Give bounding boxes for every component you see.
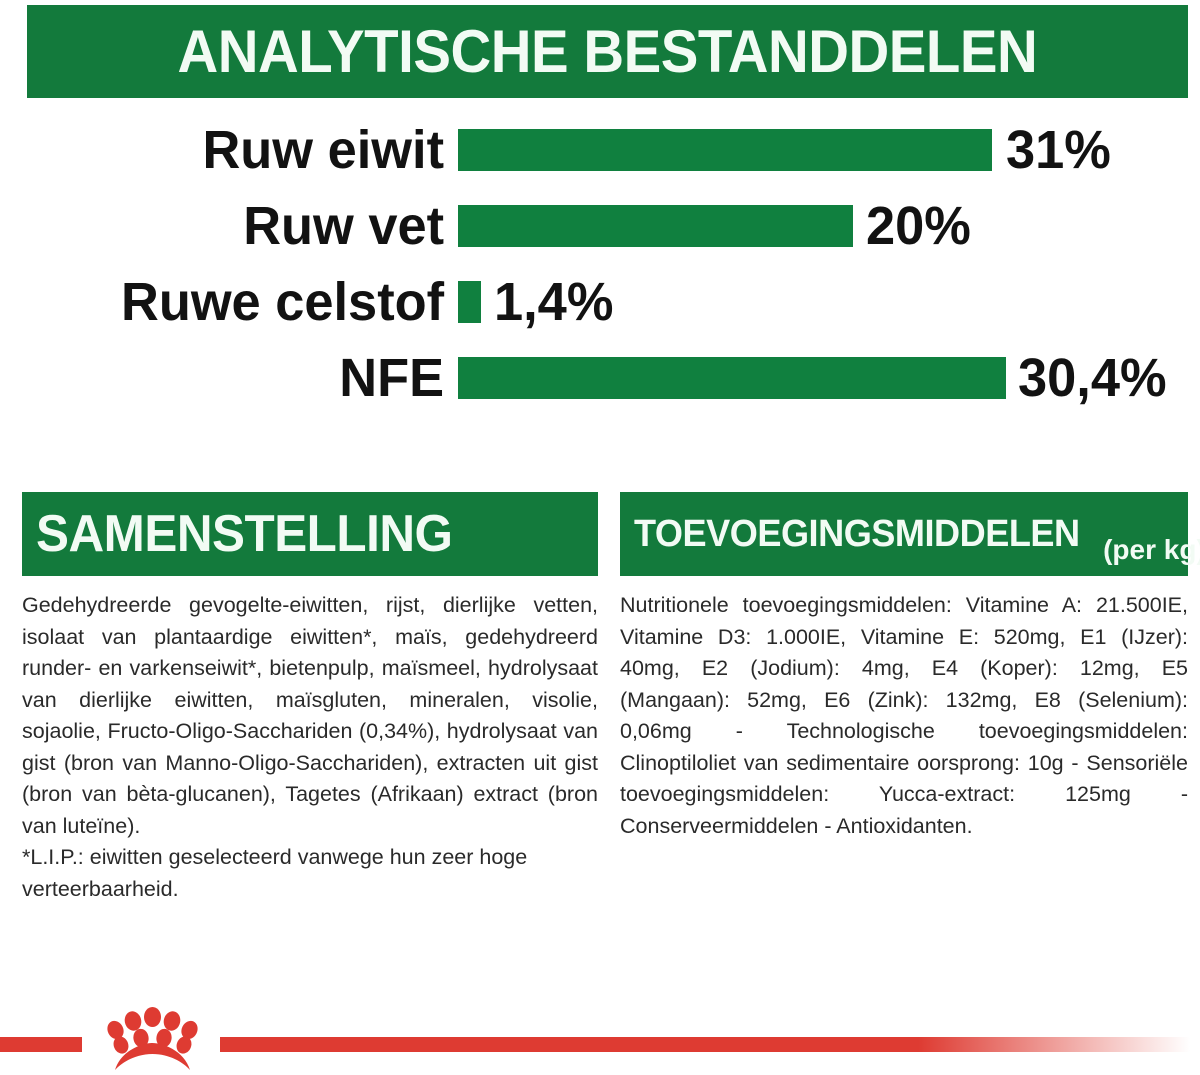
additives-header: TOEVOEGINGSMIDDELEN (per kg) <box>620 492 1188 576</box>
additives-panel: TOEVOEGINGSMIDDELEN (per kg) Nutritionel… <box>620 492 1188 842</box>
bar-label-ruw-eiwit: Ruw eiwit <box>202 123 444 177</box>
additives-heading: TOEVOEGINGSMIDDELEN <box>634 515 1080 553</box>
additives-text: Nutritionele toevoegingsmiddelen: Vitami… <box>620 590 1188 842</box>
bar-value-ruwe-celstof: 1,4% <box>494 275 613 329</box>
composition-text: Gedehydreerde gevogelte-eiwitten, rijst,… <box>22 590 598 842</box>
bar-value-ruw-eiwit: 31% <box>1006 123 1111 177</box>
composition-body: Gedehydreerde gevogelte-eiwitten, rijst,… <box>22 590 598 905</box>
composition-heading: SAMENSTELLING <box>36 508 452 560</box>
additives-body: Nutritionele toevoegingsmiddelen: Vitami… <box>620 590 1188 842</box>
chart-row: NFE 30,4% <box>0 340 1200 416</box>
bar-value-ruw-vet: 20% <box>866 199 971 253</box>
analytical-constituents-banner: ANALYTISCHE BESTANDDELEN <box>27 5 1188 98</box>
brand-footer <box>0 1000 1200 1075</box>
additives-subheading: (per kg) <box>1103 536 1200 576</box>
composition-footnote: *L.I.P.: eiwitten geselecteerd vanwege h… <box>22 842 598 905</box>
bar-ruw-vet <box>458 205 853 247</box>
chart-row: Ruwe celstof 1,4% <box>0 264 1200 340</box>
analytical-constituents-chart: Ruw eiwit 31% Ruw vet 20% Ruwe celstof 1… <box>0 112 1200 452</box>
bar-label-nfe: NFE <box>339 351 444 405</box>
bar-label-ruw-vet: Ruw vet <box>243 199 444 253</box>
chart-row: Ruw vet 20% <box>0 188 1200 264</box>
bar-nfe <box>458 357 1006 399</box>
footer-rule-left <box>0 1037 82 1052</box>
royal-canin-crown-icon <box>85 1000 220 1075</box>
composition-panel: SAMENSTELLING Gedehydreerde gevogelte-ei… <box>22 492 598 905</box>
page-title: ANALYTISCHE BESTANDDELEN <box>178 22 1038 82</box>
footer-rule-right <box>220 1037 1190 1052</box>
chart-row: Ruw eiwit 31% <box>0 112 1200 188</box>
bar-label-ruwe-celstof: Ruwe celstof <box>121 275 444 329</box>
bar-ruwe-celstof <box>458 281 481 323</box>
composition-header: SAMENSTELLING <box>22 492 598 576</box>
bar-ruw-eiwit <box>458 129 992 171</box>
bar-value-nfe: 30,4% <box>1018 351 1167 405</box>
